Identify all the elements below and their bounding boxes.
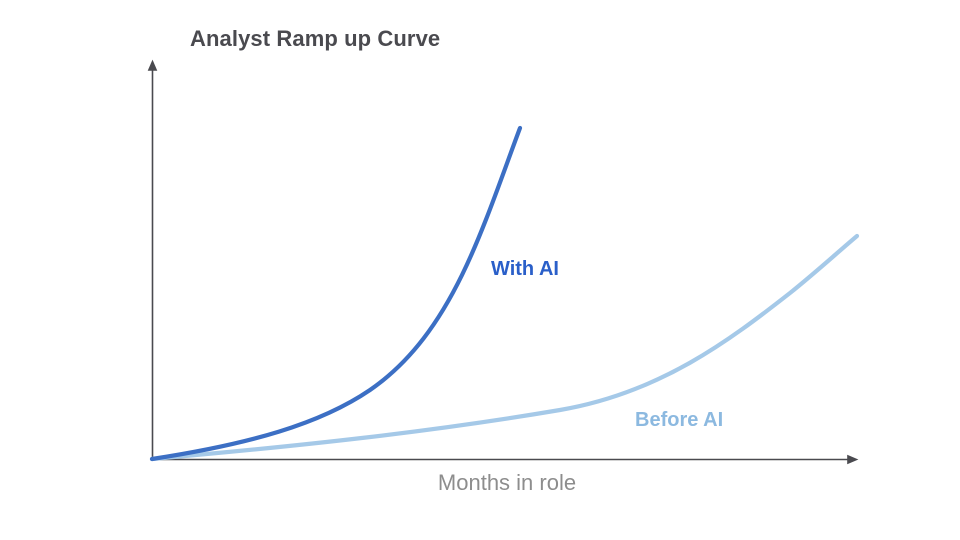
x-axis-label: Months in role <box>152 470 862 496</box>
plot-area <box>0 0 960 540</box>
series-label-with-ai: With AI <box>491 258 559 281</box>
series-line-with-ai <box>152 128 520 459</box>
chart-canvas: Analyst Ramp up Curve With AI Before AI … <box>0 0 960 540</box>
series-label-before-ai: Before AI <box>635 409 723 432</box>
